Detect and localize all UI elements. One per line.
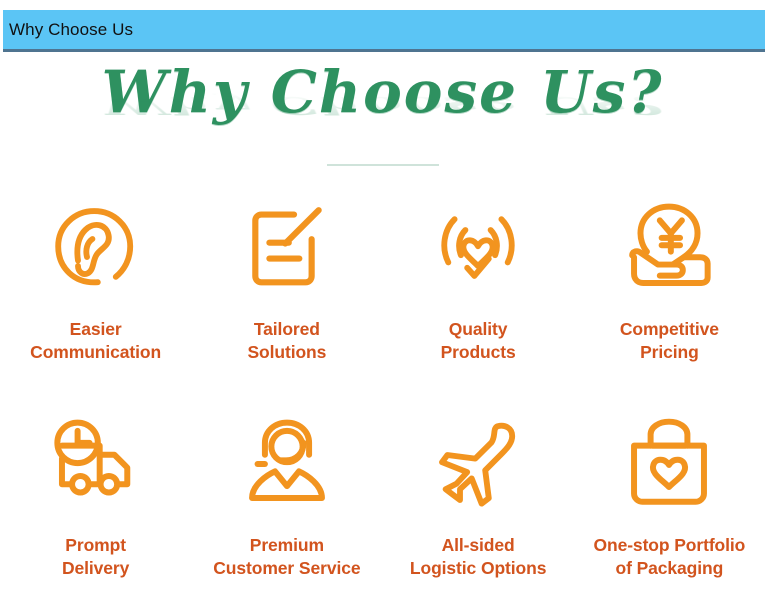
feature-item-premium-customer-service[interactable]: Premium Customer Service	[191, 412, 382, 612]
hero-divider	[327, 164, 439, 166]
feature-label: Easier Communication	[26, 318, 165, 364]
window-header-bar: Why Choose Us	[3, 10, 765, 52]
hero-title-text: Why Choose Us?	[102, 62, 664, 123]
feature-label: Tailored Solutions	[243, 318, 330, 364]
hero-title-wrapper: Why Choose Us? Why Choose Us?	[0, 62, 765, 148]
headset-agent-icon	[239, 416, 335, 512]
heart-check-signal-icon	[430, 200, 526, 296]
document-pencil-icon	[239, 200, 335, 296]
feature-item-quality-products[interactable]: Quality Products	[383, 196, 574, 412]
feature-label: Prompt Delivery	[58, 534, 133, 580]
shopping-bag-heart-icon	[621, 416, 717, 512]
feature-label: All-sided Logistic Options	[406, 534, 550, 580]
hand-yen-coin-icon	[621, 200, 717, 296]
feature-label: Quality Products	[437, 318, 520, 364]
feature-item-easier-communication[interactable]: Easier Communication	[0, 196, 191, 412]
feature-grid: Easier Communication Tailored Solutions	[0, 196, 765, 612]
truck-clock-icon	[48, 416, 144, 512]
feature-label: Competitive Pricing	[616, 318, 723, 364]
feature-label: Premium Customer Service	[209, 534, 364, 580]
hero-section: Why Choose Us? Why Choose Us?	[0, 62, 765, 166]
airplane-icon	[430, 416, 526, 512]
feature-item-tailored-solutions[interactable]: Tailored Solutions	[191, 196, 382, 412]
feature-item-all-sided-logistic-options[interactable]: All-sided Logistic Options	[383, 412, 574, 612]
feature-item-prompt-delivery[interactable]: Prompt Delivery	[0, 412, 191, 612]
feature-label: One-stop Portfolio of Packaging	[589, 534, 749, 580]
page-title: Why Choose Us	[3, 20, 133, 40]
feature-item-competitive-pricing[interactable]: Competitive Pricing	[574, 196, 765, 412]
ear-in-circle-icon	[48, 200, 144, 296]
feature-item-one-stop-portfolio-of-packaging[interactable]: One-stop Portfolio of Packaging	[574, 412, 765, 612]
